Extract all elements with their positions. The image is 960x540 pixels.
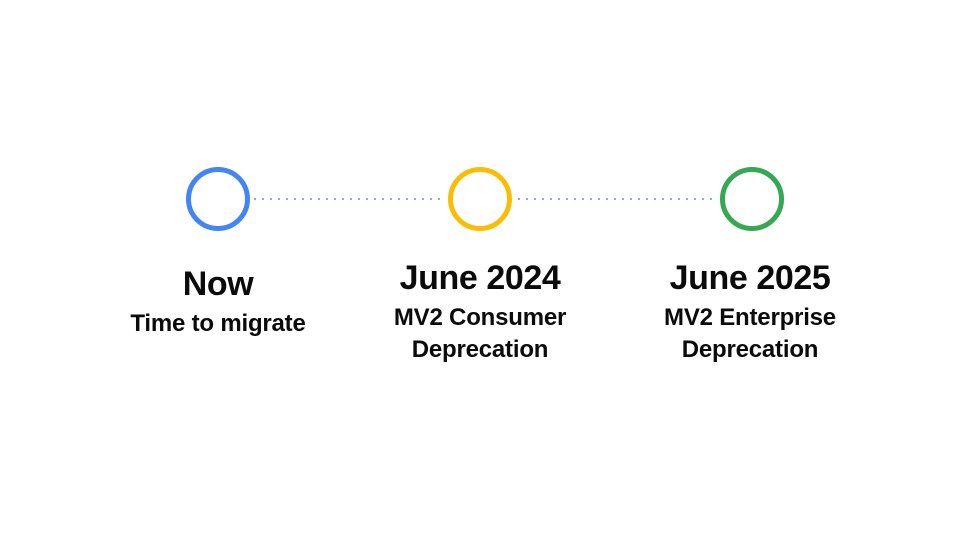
timeline-diagram: Now Time to migrate June 2024 MV2 Consum… (0, 0, 960, 540)
timeline-connector-now-to-june-2024 (254, 198, 442, 200)
milestone-title-june-2024: June 2024 (330, 258, 630, 298)
timeline-connector-june-2024-to-june-2025 (518, 198, 718, 200)
timeline-label-june-2025: June 2025 MV2 Enterprise Deprecation (600, 258, 900, 366)
milestone-subtitle-line: MV2 Consumer (330, 302, 630, 334)
milestone-subtitle-line: Deprecation (330, 334, 630, 366)
milestone-subtitle-line: MV2 Enterprise (600, 302, 900, 334)
timeline-label-june-2024: June 2024 MV2 Consumer Deprecation (330, 258, 630, 366)
timeline-marker-june-2024 (448, 167, 512, 231)
milestone-subtitle-june-2025: MV2 Enterprise Deprecation (600, 302, 900, 366)
timeline-marker-now (186, 167, 250, 231)
milestone-subtitle-line: Deprecation (600, 334, 900, 366)
timeline-marker-june-2025 (720, 167, 784, 231)
milestone-subtitle-june-2024: MV2 Consumer Deprecation (330, 302, 630, 366)
milestone-title-june-2025: June 2025 (600, 258, 900, 298)
